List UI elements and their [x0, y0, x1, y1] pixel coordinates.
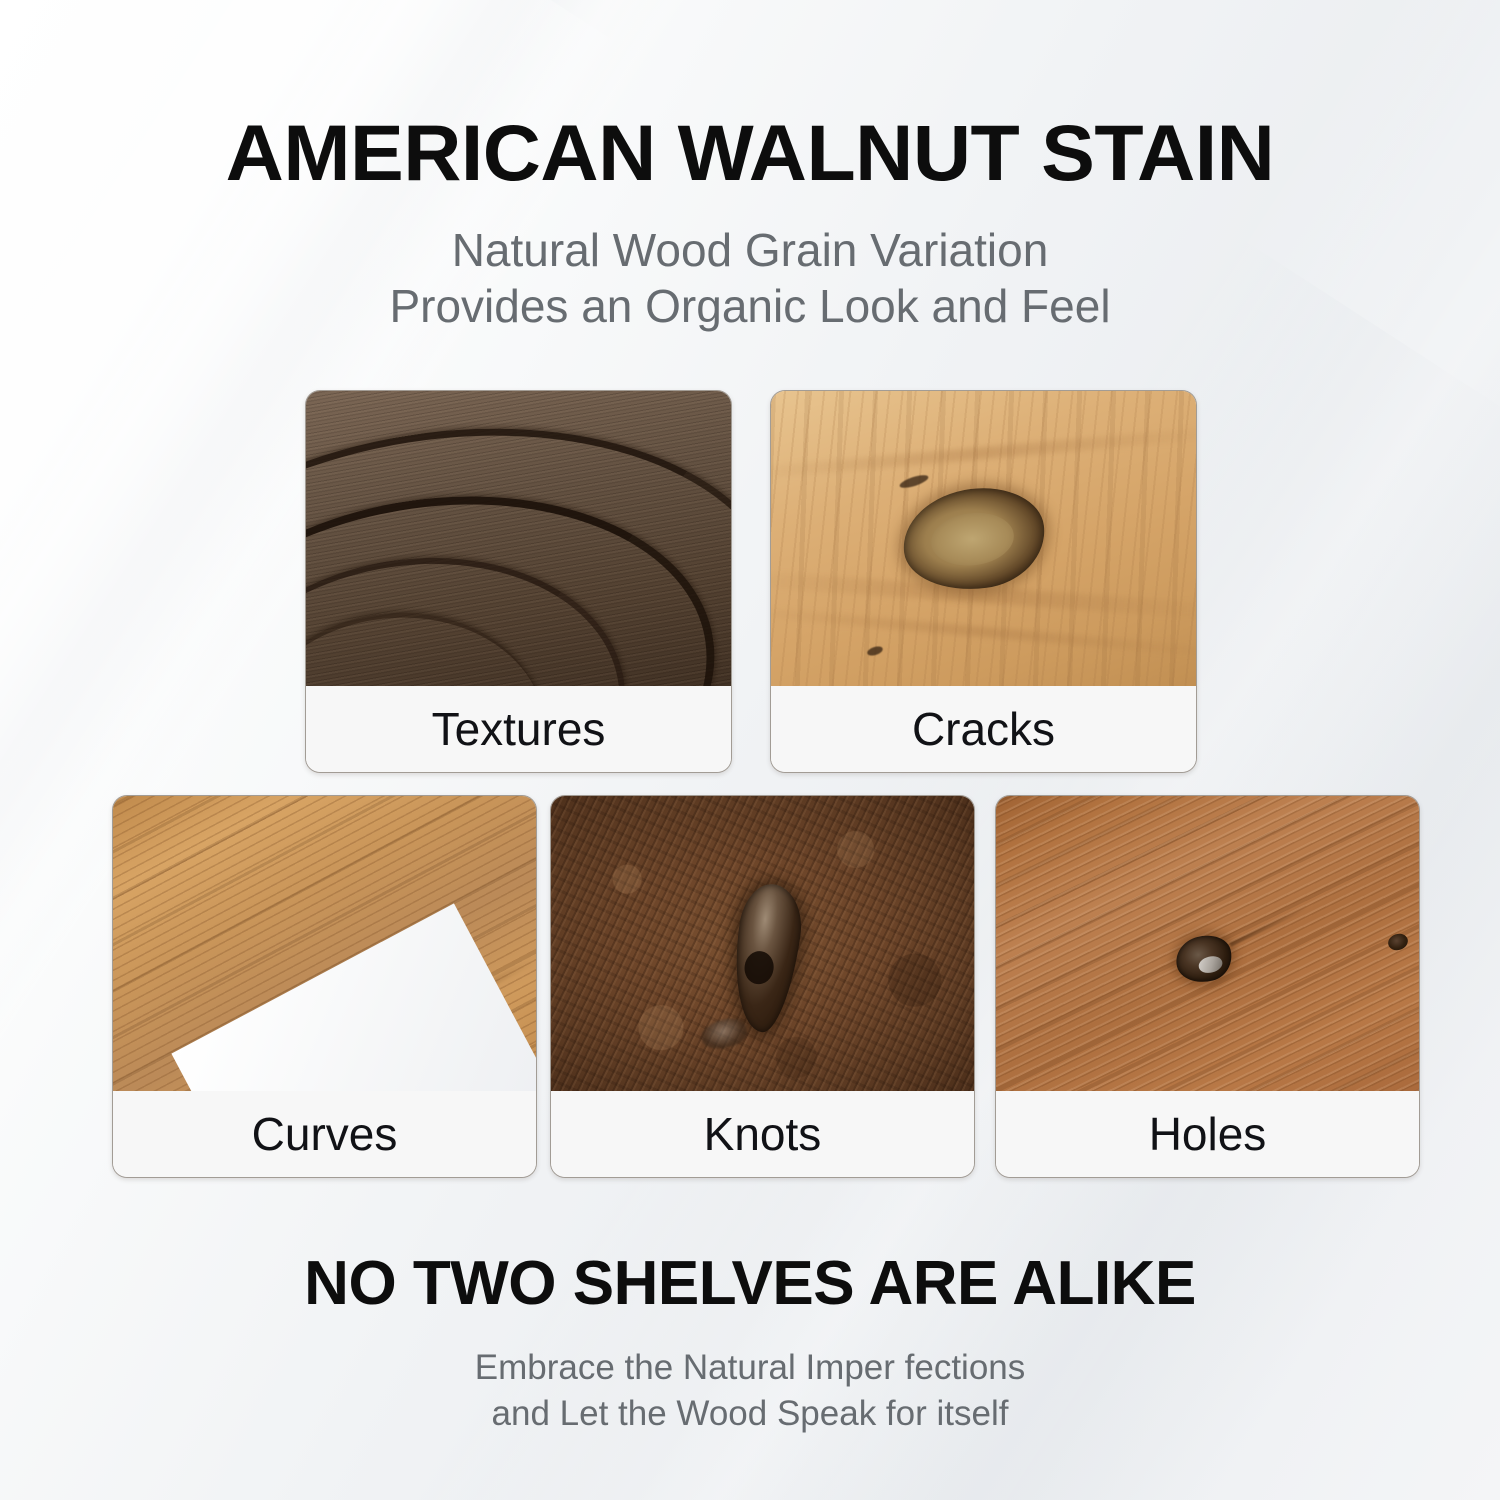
- gallery-card-knots[interactable]: Knots: [550, 795, 975, 1178]
- bore-hole: [1171, 930, 1236, 988]
- tan-wood-bore-hole-photo: [996, 796, 1419, 1093]
- grain-scratch: [1229, 905, 1308, 946]
- curved-shelf-edge-grain-photo: [113, 796, 536, 1093]
- secondary-hole: [1386, 931, 1410, 952]
- dark-walnut-grain-rings-photo: [306, 391, 731, 688]
- gallery-card-curves[interactable]: Curves: [112, 795, 537, 1178]
- footer-subtitle-line-1: Embrace the Natural Imper fections: [0, 1345, 1500, 1391]
- grain-band-1: [771, 425, 1196, 481]
- gallery-card-holes[interactable]: Holes: [995, 795, 1420, 1178]
- grain-nick-upper: [898, 473, 929, 491]
- footer-title: NO TWO SHELVES ARE ALIKE: [0, 1248, 1500, 1319]
- card-label: Curves: [252, 1111, 398, 1157]
- curves-label-band: Curves: [113, 1091, 536, 1177]
- footer-subtitle: Embrace the Natural Imper fections and L…: [0, 1345, 1500, 1437]
- card-label: Textures: [432, 706, 606, 752]
- textures-photo: [306, 391, 731, 688]
- page-subtitle: Natural Wood Grain Variation Provides an…: [0, 222, 1500, 334]
- promo-graphic: AMERICAN WALNUT STAIN Natural Wood Grain…: [0, 0, 1500, 1500]
- grain-nick-lower: [866, 645, 884, 658]
- gallery-card-textures[interactable]: Textures: [305, 390, 732, 773]
- page-title: AMERICAN WALNUT STAIN: [0, 107, 1500, 199]
- knots-photo: [551, 796, 974, 1093]
- light-wood-knot-crack-photo: [771, 391, 1196, 688]
- crack-knot-oval: [897, 481, 1050, 598]
- textures-label-band: Textures: [306, 686, 731, 772]
- shelf-cut-corner: [171, 903, 536, 1093]
- card-label: Holes: [1149, 1111, 1267, 1157]
- page-subtitle-line-1: Natural Wood Grain Variation: [0, 222, 1500, 278]
- knots-label-band: Knots: [551, 1091, 974, 1177]
- gallery-card-cracks[interactable]: Cracks: [770, 390, 1197, 773]
- holes-photo: [996, 796, 1419, 1093]
- dark-brown-knot-texture-photo: [551, 796, 974, 1093]
- card-label: Knots: [704, 1111, 822, 1157]
- cracks-label-band: Cracks: [771, 686, 1196, 772]
- page-subtitle-line-2: Provides an Organic Look and Feel: [0, 278, 1500, 334]
- card-label: Cracks: [912, 706, 1055, 752]
- footer-subtitle-line-2: and Let the Wood Speak for itself: [0, 1391, 1500, 1437]
- curves-photo: [113, 796, 536, 1093]
- cracks-photo: [771, 391, 1196, 688]
- holes-label-band: Holes: [996, 1091, 1419, 1177]
